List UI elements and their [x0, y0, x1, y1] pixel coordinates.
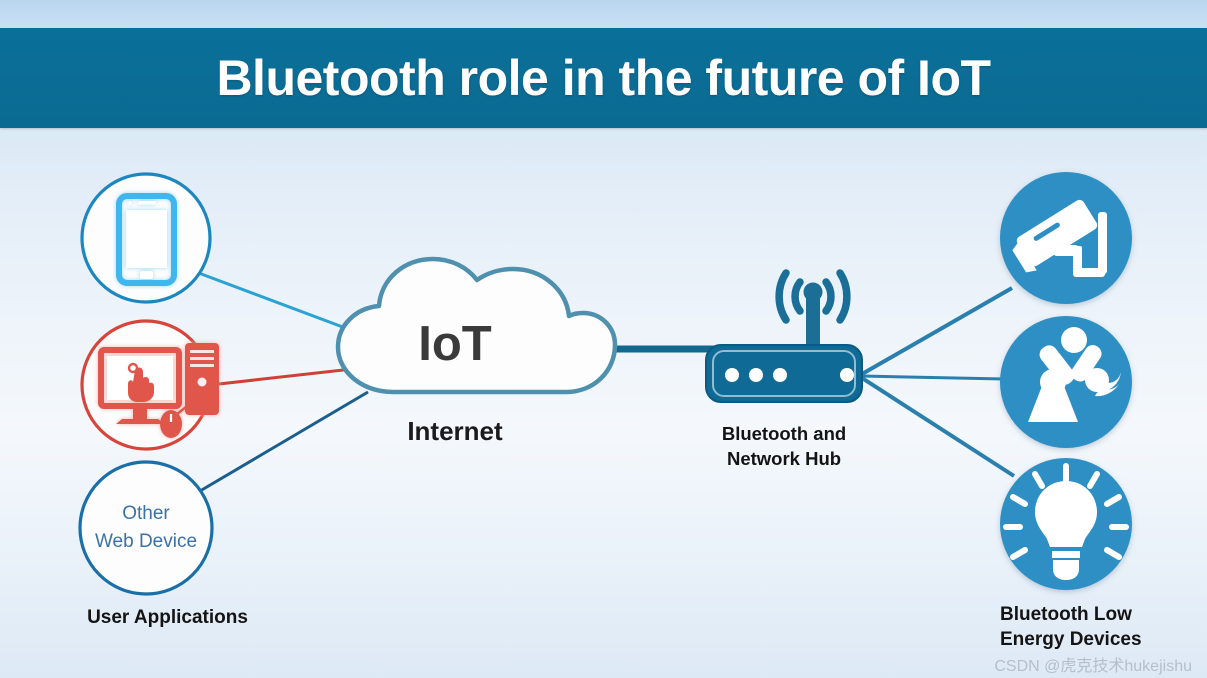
cloud-inner-label: IoT [330, 316, 580, 372]
network-diagram [0, 0, 1207, 678]
antenna-post [806, 298, 820, 350]
node-smartphone[interactable] [82, 174, 210, 302]
node-robotic-arm[interactable] [1000, 316, 1132, 448]
hub-caption-line2: Network Hub [664, 446, 904, 471]
csdn-watermark: CSDN @虎克技术hukejishu [0, 652, 1200, 676]
other-web-device-label: Other Web Device [76, 500, 216, 556]
ble-devices-line1: Bluetooth Low [1000, 602, 1200, 627]
node-smart-lightbulb[interactable] [1000, 458, 1132, 590]
connector-hub-to-camera [862, 288, 1012, 374]
ble-devices-line2: Energy Devices [1000, 627, 1200, 652]
node-bluetooth-hub[interactable] [706, 273, 862, 402]
user-applications-label: User Applications [30, 607, 305, 629]
slide-canvas: Bluetooth role in the future of IoT [0, 0, 1207, 678]
connector-hub-to-robot [862, 376, 1004, 379]
hub-caption-line1: Bluetooth and [664, 421, 904, 446]
node-security-camera[interactable] [1000, 172, 1132, 304]
other-web-device-line1: Other [76, 500, 216, 528]
hub-caption: Bluetooth and Network Hub [664, 421, 904, 471]
other-web-device-line2: Web Device [76, 528, 216, 556]
ble-devices-label: Bluetooth Low Energy Devices [1000, 602, 1200, 652]
